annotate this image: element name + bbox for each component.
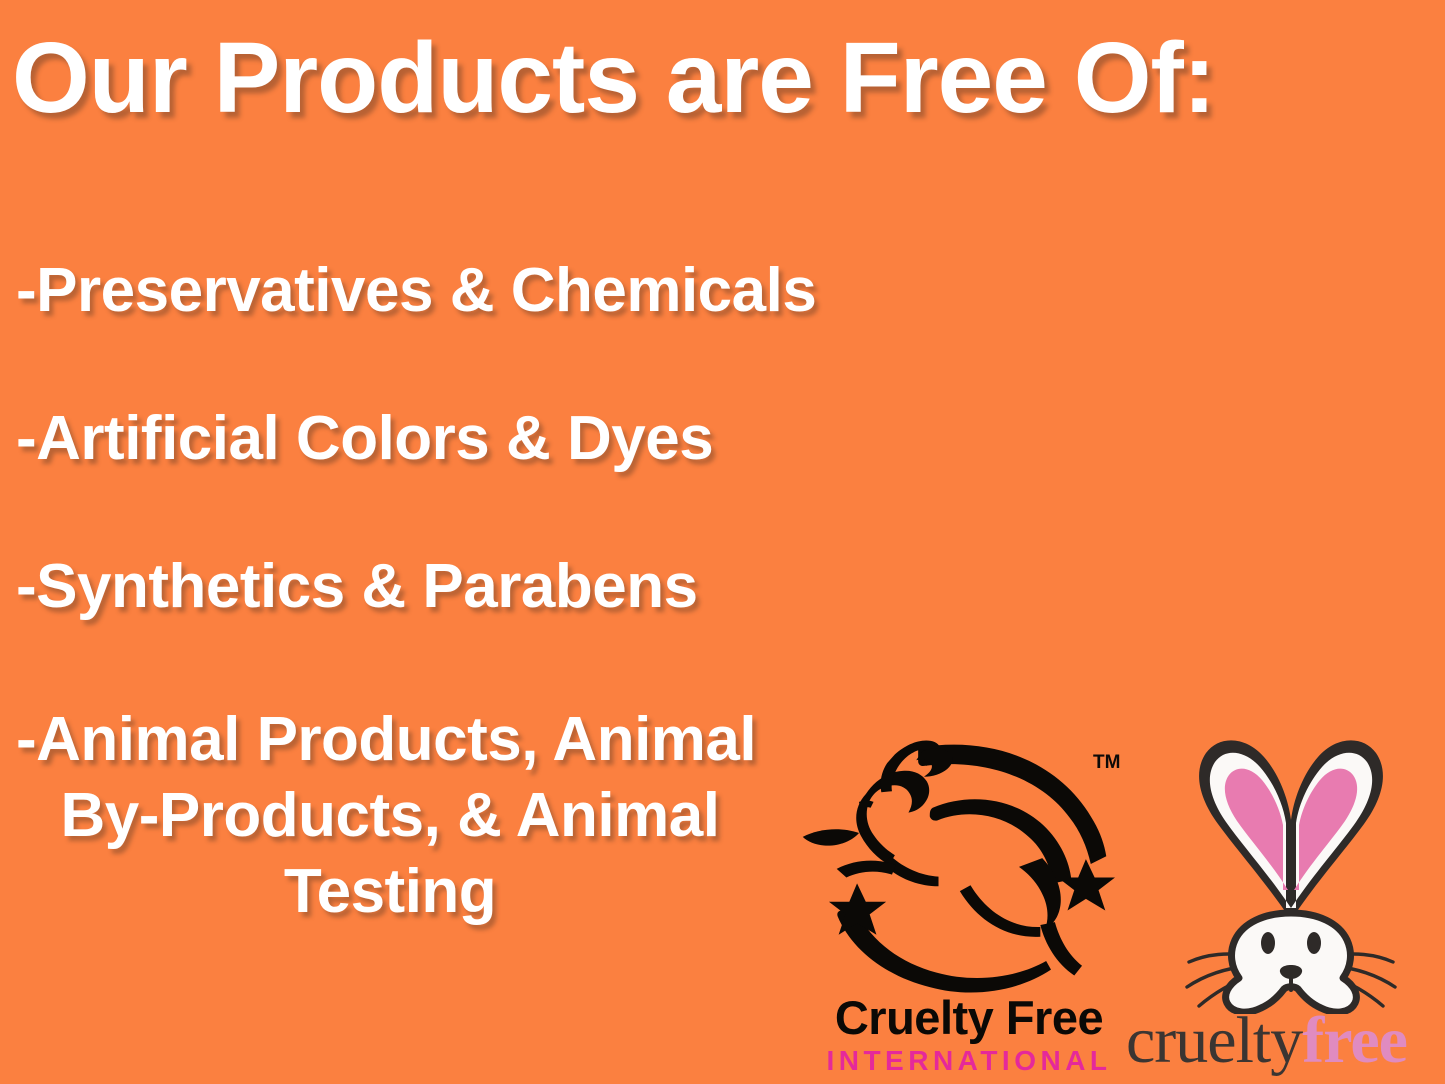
cruelty-free-logo: crueltyfree <box>1135 720 1445 1084</box>
certification-logos: TM Cruelty Free INTERNATIONAL <box>795 720 1445 1084</box>
page-title: Our Products are Free Of: <box>12 26 1215 130</box>
bunny-eye-right <box>1307 932 1321 954</box>
trademark-symbol: TM <box>1093 752 1120 774</box>
cruelty-free-wordmark: crueltyfree <box>1126 1006 1445 1076</box>
slide-canvas: Our Products are Free Of: -Preservatives… <box>0 0 1445 1084</box>
cruelty-free-international-logo: TM Cruelty Free INTERNATIONAL <box>795 720 1115 1084</box>
wordmark-cruelty: cruelty <box>1126 1004 1302 1077</box>
list-item: -Artificial Colors & Dyes <box>16 406 816 472</box>
list-item: -Animal Products, Animal By-Products, & … <box>16 702 816 930</box>
free-of-list: -Preservatives & Chemicals -Artificial C… <box>16 258 816 930</box>
cruelty-free-international-subtitle: INTERNATIONAL <box>823 1045 1115 1076</box>
bunny-heart-ears-icon <box>1171 724 1411 1014</box>
bunny-eye-left <box>1261 932 1275 954</box>
bunny-face <box>1226 913 1357 1012</box>
list-item-line-2: By-Products, & Animal <box>16 778 816 854</box>
list-item-line-1: -Animal Products, Animal <box>16 702 816 778</box>
cruelty-free-international-name: Cruelty Free <box>823 992 1115 1044</box>
list-item: -Preservatives & Chemicals <box>16 258 816 324</box>
leaping-bunny-icon <box>795 732 1115 994</box>
list-item-line-3: Testing <box>16 854 816 930</box>
list-item: -Synthetics & Parabens <box>16 554 816 620</box>
wordmark-free: free <box>1302 1004 1407 1077</box>
